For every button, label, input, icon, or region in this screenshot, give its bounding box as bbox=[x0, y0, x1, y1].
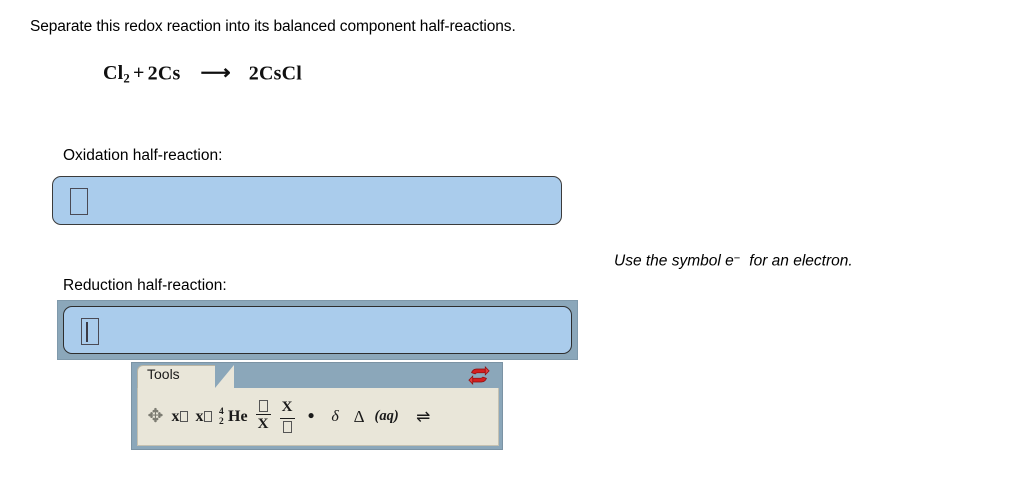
redox-equation: Cl2+2Cs⟶2CsCl bbox=[103, 60, 302, 87]
exercise-page: Separate this redox reaction into its ba… bbox=[0, 0, 1024, 490]
move-tool[interactable]: ✥ bbox=[147, 396, 164, 438]
tools-tabstrip: Tools bbox=[132, 363, 502, 388]
equation-reactant-1: Cl2 bbox=[103, 62, 130, 84]
electron-symbol-hint: Use the symbol e−for an electron. bbox=[614, 252, 853, 271]
equation-reactant-2: 2Cs bbox=[148, 62, 181, 84]
oxidation-placeholder-slot bbox=[70, 188, 88, 215]
fraction-numerator-slot bbox=[259, 400, 268, 412]
oxidation-half-reaction-input[interactable] bbox=[52, 176, 562, 225]
fraction-x-over-box-tool[interactable]: X bbox=[279, 396, 296, 438]
hint-text-after: for an electron. bbox=[749, 253, 852, 270]
equilibrium-arrow-tool[interactable]: ⇌ bbox=[415, 396, 432, 438]
isotope-atomic-number: 2 bbox=[219, 417, 224, 427]
refresh-icon[interactable] bbox=[467, 364, 491, 387]
isotope-numbers: 4 2 bbox=[219, 406, 224, 427]
isotope-tool[interactable]: 4 2 He bbox=[219, 396, 248, 438]
superscript-tool[interactable]: x bbox=[171, 396, 188, 438]
isotope-element-symbol: He bbox=[228, 409, 248, 425]
tab-tools-slant bbox=[215, 365, 234, 388]
reduction-placeholder-slot bbox=[81, 318, 99, 345]
hint-superscript: − bbox=[734, 252, 741, 264]
equation-product: 2CsCl bbox=[249, 62, 302, 84]
bullet-tool[interactable]: • bbox=[303, 396, 320, 438]
hint-text-before: Use the symbol e bbox=[614, 253, 734, 270]
isotope-mass-number: 4 bbox=[219, 406, 224, 416]
reduction-input-focus-frame bbox=[57, 300, 578, 360]
fraction-bar bbox=[280, 418, 295, 420]
fraction-numerator: X bbox=[282, 400, 293, 416]
reduction-half-reaction-label: Reduction half-reaction: bbox=[63, 277, 227, 295]
tools-panel: Tools ✥ x x 4 2 He bbox=[131, 362, 503, 450]
delta-lowercase-tool[interactable]: δ bbox=[327, 396, 344, 438]
equation-plus: + bbox=[133, 62, 145, 84]
tools-body: ✥ x x 4 2 He X bbox=[137, 388, 499, 446]
aqueous-state-tool[interactable]: (aq) bbox=[375, 396, 399, 438]
delta-uppercase-tool[interactable]: Δ bbox=[351, 396, 368, 438]
subscript-tool[interactable]: x bbox=[195, 396, 212, 438]
tab-tools-label: Tools bbox=[147, 366, 180, 382]
equation-subscript: 2 bbox=[123, 72, 130, 86]
fraction-denominator: X bbox=[258, 417, 269, 433]
fraction-denominator-slot bbox=[283, 421, 292, 433]
fraction-box-over-x-tool[interactable]: X bbox=[255, 396, 272, 438]
tools-row: ✥ x x 4 2 He X bbox=[138, 388, 498, 445]
page-title: Separate this redox reaction into its ba… bbox=[30, 18, 516, 36]
reduction-half-reaction-input[interactable] bbox=[63, 306, 572, 354]
text-caret bbox=[86, 322, 88, 342]
equation-arrow-icon: ⟶ bbox=[200, 60, 230, 85]
oxidation-half-reaction-label: Oxidation half-reaction: bbox=[63, 147, 222, 165]
